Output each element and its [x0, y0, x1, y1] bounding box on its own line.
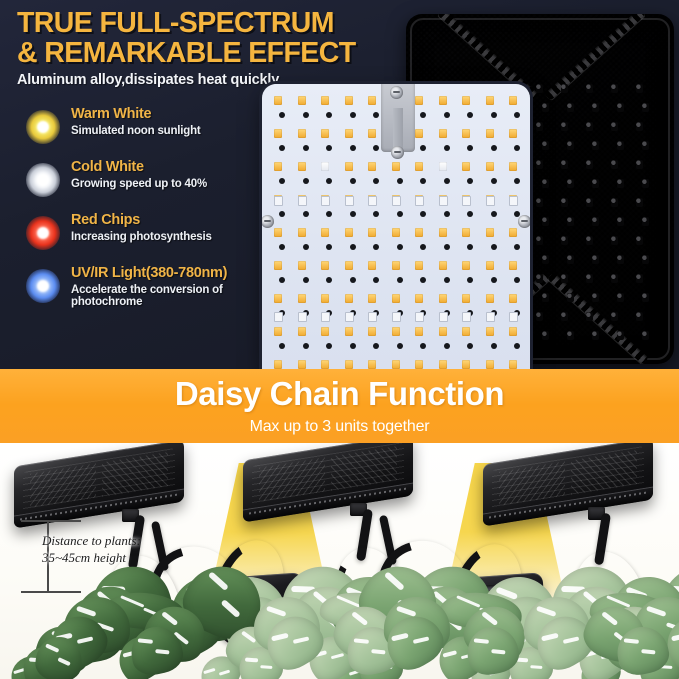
- vent-hole: [586, 274, 593, 283]
- led-diode: [420, 178, 426, 184]
- led-chip: [509, 327, 517, 336]
- led-chip: [392, 327, 400, 336]
- vent-hole: [636, 122, 643, 131]
- led-diode: [467, 343, 473, 349]
- daisy-chain-banner: Daisy Chain Function Max up to 3 units t…: [0, 369, 679, 443]
- uv-ir-led-chip: [486, 312, 495, 322]
- uv-ir-led-chip: [439, 196, 448, 206]
- led-chip: [462, 261, 470, 270]
- vent-hole: [592, 331, 599, 340]
- led-chip: [298, 228, 306, 237]
- vent-hole: [586, 84, 593, 93]
- led-chip: [486, 261, 494, 270]
- led-chip: [345, 129, 353, 138]
- uv-ir-led-chip: [509, 312, 518, 322]
- vent-hole: [592, 141, 599, 150]
- led-diode: [373, 277, 379, 283]
- vent-hole: [636, 160, 643, 169]
- led-diode: [467, 244, 473, 250]
- uv-ir-led-chip: [345, 312, 354, 322]
- vent-hole: [561, 198, 568, 207]
- led-chip: [486, 294, 494, 303]
- vent-hole: [567, 217, 574, 226]
- led-chip: [298, 360, 306, 369]
- vent-hole: [536, 274, 543, 283]
- warm-white-led-dot-icon: [26, 110, 60, 144]
- led-chip: [321, 261, 329, 270]
- led-chip: [392, 294, 400, 303]
- uv-ir-led-chip: [486, 196, 495, 206]
- led-chip: [298, 162, 306, 171]
- vent-hole: [592, 255, 599, 264]
- led-chip: [509, 261, 517, 270]
- led-diode: [326, 277, 332, 283]
- uv-ir-led-dot-icon: [26, 269, 60, 303]
- vent-hole: [561, 84, 568, 93]
- led-diode: [303, 343, 309, 349]
- vent-hole: [617, 255, 624, 264]
- led-chip: [321, 228, 329, 237]
- vent-hole: [642, 255, 649, 264]
- vent-hole: [561, 312, 568, 321]
- led-diode: [350, 211, 356, 217]
- led-panel: [262, 84, 530, 369]
- led-chip: [274, 327, 282, 336]
- led-chip: [345, 360, 353, 369]
- vent-hole: [617, 217, 624, 226]
- headline-line-1: TRUE FULL-SPECTRUM: [17, 7, 334, 39]
- measure-line-2: 35~45cm height: [42, 550, 126, 565]
- vent-hole: [567, 255, 574, 264]
- uv-ir-led-chip: [462, 312, 471, 322]
- legend-item: UV/IR Light(380-780nm) Accelerate the co…: [18, 265, 286, 318]
- vent-hole: [611, 122, 618, 131]
- led-chip: [509, 360, 517, 369]
- vent-hole: [536, 198, 543, 207]
- vent-hole: [542, 293, 549, 302]
- legend-desc: Growing speed up to 40%: [71, 178, 207, 190]
- led-diode: [444, 277, 450, 283]
- led-chip: [321, 162, 329, 171]
- product-infographic: TRUE FULL-SPECTRUM & REMARKABLE EFFECT A…: [0, 0, 679, 679]
- led-diode: [467, 145, 473, 151]
- led-chip: [321, 360, 329, 369]
- vent-hole: [642, 331, 649, 340]
- led-diode: [514, 244, 520, 250]
- led-chip: [415, 96, 423, 105]
- led-diode: [350, 145, 356, 151]
- led-diode: [467, 178, 473, 184]
- red-chips-led-dot-icon: [26, 216, 60, 250]
- led-chip: [345, 228, 353, 237]
- vent-hole: [642, 141, 649, 150]
- vent-hole: [542, 217, 549, 226]
- vent-hole: [567, 179, 574, 188]
- led-diode: [420, 145, 426, 151]
- led-diode: [467, 211, 473, 217]
- led-diode: [491, 277, 497, 283]
- vent-hole: [561, 236, 568, 245]
- led-chip: [345, 261, 353, 270]
- vent-hole: [536, 160, 543, 169]
- headline-line-2: & REMARKABLE EFFECT: [17, 38, 417, 68]
- led-chip: [274, 360, 282, 369]
- vent-hole: [642, 217, 649, 226]
- measure-line-1: Distance to plants:: [42, 533, 141, 548]
- led-chip: [415, 129, 423, 138]
- uv-ir-led-chip: [415, 196, 424, 206]
- led-diode: [303, 145, 309, 151]
- led-diode: [467, 277, 473, 283]
- led-diode: [397, 244, 403, 250]
- led-chip: [298, 129, 306, 138]
- led-diode: [420, 244, 426, 250]
- page-title: TRUE FULL-SPECTRUM & REMARKABLE EFFECT: [17, 8, 417, 68]
- led-diode: [303, 244, 309, 250]
- led-diode: [373, 244, 379, 250]
- led-diode: [326, 145, 332, 151]
- vent-hole: [561, 122, 568, 131]
- vent-hole: [586, 198, 593, 207]
- led-chip: [321, 327, 329, 336]
- screw-icon: [391, 146, 404, 159]
- vent-hole: [611, 236, 618, 245]
- vent-hole: [542, 331, 549, 340]
- led-diode: [350, 112, 356, 118]
- led-diode: [326, 112, 332, 118]
- led-diode: [420, 112, 426, 118]
- led-chip: [392, 228, 400, 237]
- led-chip: [368, 327, 376, 336]
- lamp-head: [243, 443, 413, 522]
- led-chip: [509, 294, 517, 303]
- vent-hole: [611, 198, 618, 207]
- led-chip: [462, 129, 470, 138]
- uv-ir-led-chip: [345, 196, 354, 206]
- uv-ir-led-chip: [321, 196, 330, 206]
- led-diode: [420, 211, 426, 217]
- vent-hole: [636, 198, 643, 207]
- vent-hole: [636, 84, 643, 93]
- led-chip: [345, 327, 353, 336]
- led-chip: [486, 360, 494, 369]
- vent-hole: [617, 103, 624, 112]
- vent-hole: [586, 160, 593, 169]
- legend-item: Cold White Growing speed up to 40%: [18, 159, 286, 212]
- vent-hole: [617, 293, 624, 302]
- led-diode: [444, 343, 450, 349]
- led-diode: [303, 178, 309, 184]
- led-chip: [462, 327, 470, 336]
- led-diode: [350, 277, 356, 283]
- uv-ir-led-chip: [392, 312, 401, 322]
- led-chip: [415, 228, 423, 237]
- led-chip: [462, 162, 470, 171]
- led-chip: [486, 327, 494, 336]
- vent-hole: [567, 141, 574, 150]
- led-chip: [509, 162, 517, 171]
- led-chip: [368, 360, 376, 369]
- led-chip: [368, 129, 376, 138]
- led-diode: [491, 244, 497, 250]
- vent-hole: [586, 122, 593, 131]
- vent-hole: [542, 103, 549, 112]
- spectrum-legend: Warm White Simulated noon sunlight Cold …: [18, 106, 286, 318]
- legend-title: Cold White: [71, 159, 144, 175]
- led-chip: [462, 228, 470, 237]
- led-diode: [514, 277, 520, 283]
- lamp-head: [483, 443, 653, 526]
- led-chip: [345, 162, 353, 171]
- led-diode: [514, 145, 520, 151]
- led-diode: [326, 343, 332, 349]
- uv-ir-led-chip: [392, 196, 401, 206]
- led-chip: [368, 294, 376, 303]
- vent-hole: [611, 312, 618, 321]
- led-diode: [326, 178, 332, 184]
- vent-hole: [617, 141, 624, 150]
- led-chip: [509, 228, 517, 237]
- led-diode: [397, 277, 403, 283]
- uv-ir-led-chip: [509, 196, 518, 206]
- uv-ir-led-chip: [298, 196, 307, 206]
- led-chip: [274, 96, 282, 105]
- led-diode: [467, 112, 473, 118]
- led-diode: [373, 112, 379, 118]
- led-diode: [420, 277, 426, 283]
- legend-item: Red Chips Increasing photosynthesis: [18, 212, 286, 265]
- vent-hole: [561, 274, 568, 283]
- vent-hole: [592, 293, 599, 302]
- led-diode: [373, 178, 379, 184]
- led-chip: [486, 96, 494, 105]
- spectrum-section: TRUE FULL-SPECTRUM & REMARKABLE EFFECT A…: [0, 0, 679, 369]
- led-diode: [397, 211, 403, 217]
- led-diode: [444, 178, 450, 184]
- vent-hole: [642, 293, 649, 302]
- led-chip: [415, 327, 423, 336]
- led-chip: [439, 360, 447, 369]
- led-chip: [509, 96, 517, 105]
- uv-ir-led-chip: [439, 312, 448, 322]
- led-chip: [368, 96, 376, 105]
- legend-title: Red Chips: [71, 212, 140, 228]
- led-diode: [491, 145, 497, 151]
- vent-hole: [636, 236, 643, 245]
- vent-hole: [611, 84, 618, 93]
- led-chip: [392, 261, 400, 270]
- led-diode: [303, 277, 309, 283]
- led-diode: [444, 211, 450, 217]
- led-chip: [298, 96, 306, 105]
- led-chip: [509, 129, 517, 138]
- led-chip: [368, 261, 376, 270]
- uv-ir-led-chip: [321, 312, 330, 322]
- lamp-head: [14, 443, 184, 528]
- screw-icon: [518, 215, 530, 228]
- led-diode: [491, 211, 497, 217]
- led-chip: [439, 261, 447, 270]
- vent-hole: [636, 274, 643, 283]
- led-chip: [486, 129, 494, 138]
- vent-hole: [611, 274, 618, 283]
- vent-hole: [586, 312, 593, 321]
- led-chip: [392, 162, 400, 171]
- led-chip: [321, 129, 329, 138]
- vent-hole: [561, 160, 568, 169]
- led-diode: [514, 343, 520, 349]
- led-diode: [350, 244, 356, 250]
- led-chip: [345, 294, 353, 303]
- uv-ir-led-chip: [462, 196, 471, 206]
- led-diode: [491, 343, 497, 349]
- led-chip: [439, 327, 447, 336]
- led-diode: [373, 343, 379, 349]
- legend-desc: Increasing photosynthesis: [71, 231, 212, 243]
- led-diode: [326, 244, 332, 250]
- led-diode: [303, 211, 309, 217]
- led-diode: [397, 343, 403, 349]
- legend-desc: Simulated noon sunlight: [71, 125, 201, 137]
- led-chip: [439, 294, 447, 303]
- led-chip: [462, 360, 470, 369]
- vent-hole: [567, 331, 574, 340]
- led-chip: [415, 261, 423, 270]
- vent-hole: [636, 312, 643, 321]
- led-chip: [368, 162, 376, 171]
- led-chip: [345, 96, 353, 105]
- led-chip: [415, 360, 423, 369]
- vent-hole: [567, 293, 574, 302]
- led-chip: [298, 261, 306, 270]
- led-diode: [326, 211, 332, 217]
- vent-hole: [617, 331, 624, 340]
- led-diode: [373, 211, 379, 217]
- led-chip: [368, 228, 376, 237]
- vent-hole: [567, 103, 574, 112]
- led-diode: [350, 178, 356, 184]
- uv-ir-led-chip: [415, 312, 424, 322]
- led-chip: [439, 129, 447, 138]
- led-diode: [303, 112, 309, 118]
- led-diode: [444, 112, 450, 118]
- vent-hole: [536, 312, 543, 321]
- legend-title: UV/IR Light(380-780nm): [71, 265, 227, 281]
- vent-hole: [592, 179, 599, 188]
- led-chip: [486, 228, 494, 237]
- vent-hole: [611, 160, 618, 169]
- led-diode: [420, 343, 426, 349]
- led-diode: [444, 145, 450, 151]
- banner-title: Daisy Chain Function: [0, 375, 679, 413]
- led-chip: [439, 228, 447, 237]
- led-diode: [397, 178, 403, 184]
- led-chip: [439, 96, 447, 105]
- led-chip: [298, 327, 306, 336]
- led-chip: [321, 96, 329, 105]
- cold-white-led-dot-icon: [26, 163, 60, 197]
- daisy-chain-scene: Distance to plants: 35~45cm height: [0, 443, 679, 679]
- vent-hole: [536, 122, 543, 131]
- led-chip: [486, 162, 494, 171]
- led-diode: [350, 343, 356, 349]
- led-chip: [439, 162, 447, 171]
- vent-hole: [542, 255, 549, 264]
- legend-item: Warm White Simulated noon sunlight: [18, 106, 286, 159]
- uv-ir-led-chip: [368, 312, 377, 322]
- led-diode: [491, 112, 497, 118]
- led-chip: [462, 294, 470, 303]
- led-diode: [514, 112, 520, 118]
- led-chip: [298, 294, 306, 303]
- vent-hole: [542, 179, 549, 188]
- led-chip: [415, 162, 423, 171]
- led-diode: [514, 178, 520, 184]
- vent-hole: [586, 236, 593, 245]
- vent-hole: [536, 236, 543, 245]
- vent-hole: [642, 179, 649, 188]
- vent-hole: [617, 179, 624, 188]
- uv-ir-led-chip: [298, 312, 307, 322]
- uv-ir-led-chip: [368, 196, 377, 206]
- vent-hole: [536, 84, 543, 93]
- led-chip: [321, 294, 329, 303]
- led-chip: [392, 360, 400, 369]
- legend-title: Warm White: [71, 106, 151, 122]
- screw-icon: [390, 86, 403, 99]
- legend-desc: Accelerate the conversion of photochrome: [71, 284, 286, 308]
- led-diode: [373, 145, 379, 151]
- led-diode: [491, 178, 497, 184]
- led-chip: [462, 96, 470, 105]
- vent-hole: [542, 141, 549, 150]
- vent-hole: [642, 103, 649, 112]
- led-diode: [444, 244, 450, 250]
- vent-hole: [592, 103, 599, 112]
- banner-subtitle: Max up to 3 units together: [0, 418, 679, 436]
- led-chip: [415, 294, 423, 303]
- vent-hole: [592, 217, 599, 226]
- led-diode: [279, 343, 285, 349]
